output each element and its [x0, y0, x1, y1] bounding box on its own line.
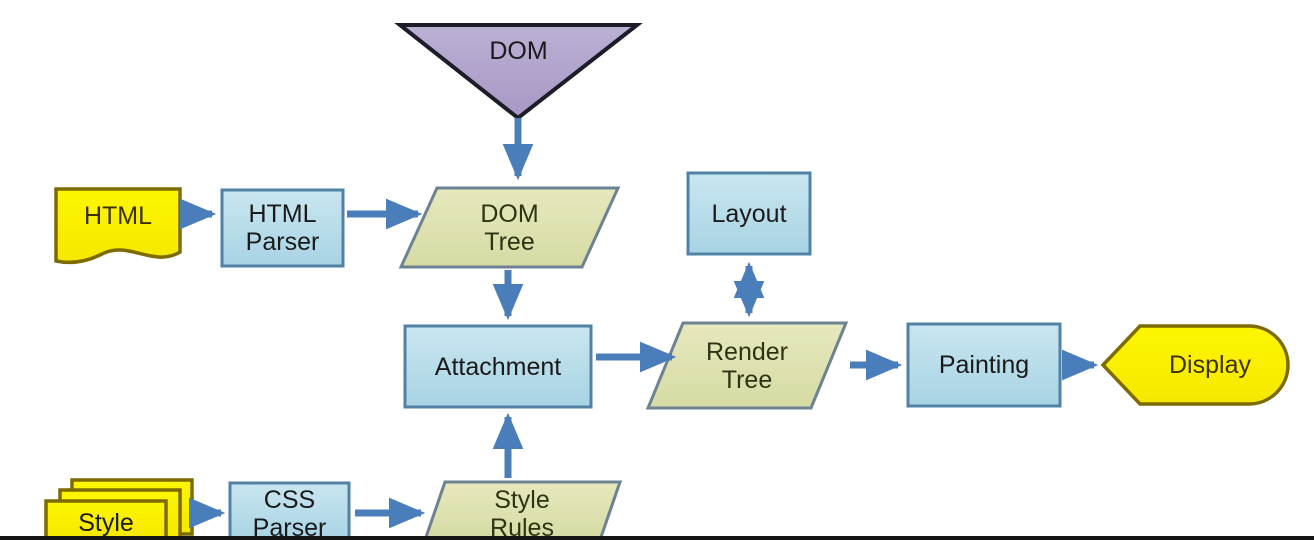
node-shape-html-parser[interactable]	[222, 190, 343, 266]
node-shape-display[interactable]	[1103, 326, 1288, 404]
node-shape-painting[interactable]	[908, 324, 1060, 406]
node-shape-attachment[interactable]	[405, 326, 591, 407]
node-shape-style-rules[interactable]	[425, 482, 620, 540]
node-shape-render-tree[interactable]	[648, 323, 846, 408]
node-shape-html[interactable]	[56, 189, 180, 262]
node-shape-css-parser[interactable]	[230, 483, 349, 540]
node-shape-layout[interactable]	[688, 173, 810, 254]
diagram-canvas: DOM HTML HTML Parser DOM Tree Attachment…	[0, 0, 1314, 540]
node-shape-style-sheet-front[interactable]	[46, 501, 166, 540]
node-shape-dom[interactable]	[400, 25, 637, 118]
bottom-divider	[0, 536, 1314, 540]
diagram-shapes-layer	[0, 0, 1314, 540]
node-shape-dom-tree[interactable]	[401, 188, 618, 267]
